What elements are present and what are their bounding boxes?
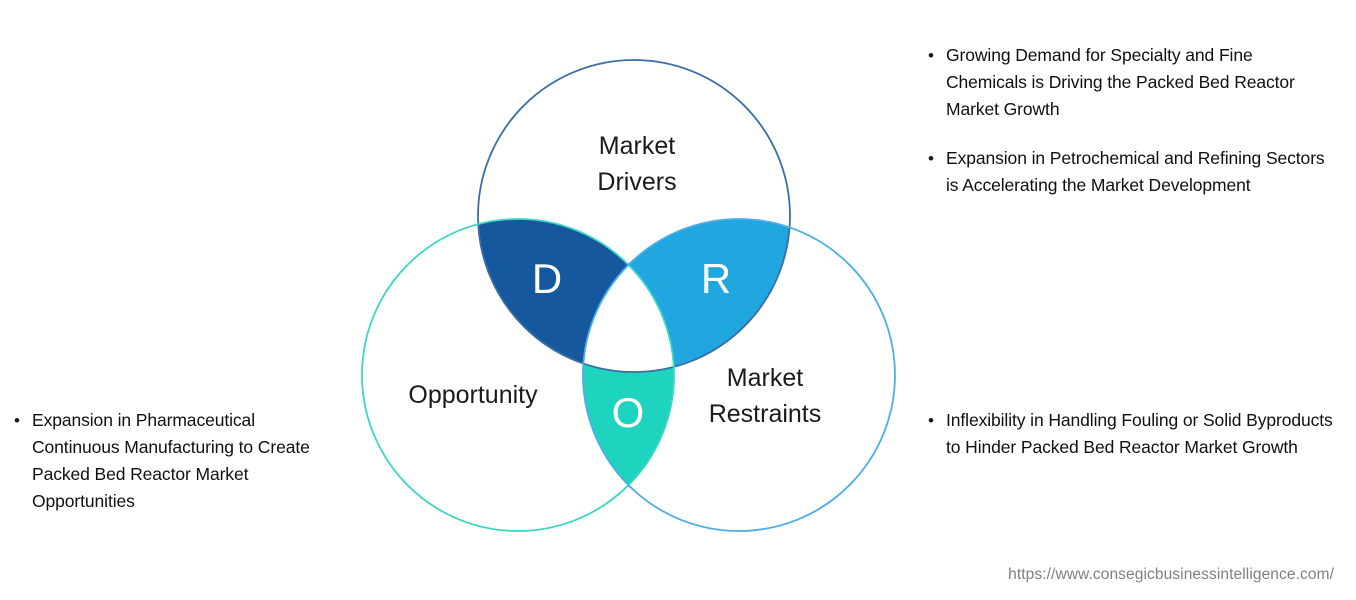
bullet-list-market-restraints: • Inflexibility in Handling Fouling or S… <box>928 407 1334 461</box>
bullet-item: • Inflexibility in Handling Fouling or S… <box>928 407 1334 461</box>
bullet-text: Expansion in Pharmaceutical Continuous M… <box>32 407 344 515</box>
bullet-text: Inflexibility in Handling Fouling or Sol… <box>946 407 1334 461</box>
venn-svg: Market Drivers Opportunity Market Restra… <box>340 30 920 560</box>
bullet-list-market-drivers: • Growing Demand for Specialty and Fine … <box>928 42 1334 199</box>
bullet-text: Expansion in Petrochemical and Refining … <box>946 145 1334 199</box>
bullet-item: • Expansion in Petrochemical and Refinin… <box>928 145 1334 199</box>
source-url[interactable]: https://www.consegicbusinessintelligence… <box>1008 566 1334 584</box>
venn-diagram: Market Drivers Opportunity Market Restra… <box>340 30 920 560</box>
bullet-list-opportunity: • Expansion in Pharmaceutical Continuous… <box>14 407 344 515</box>
bullet-item: • Growing Demand for Specialty and Fine … <box>928 42 1334 123</box>
lens-letter-o: O <box>612 389 645 436</box>
diagram-page: Market Drivers Opportunity Market Restra… <box>0 0 1356 600</box>
lens-letter-d: D <box>532 255 562 302</box>
bullet-marker-icon: • <box>928 42 946 69</box>
lens-letter-r: R <box>701 255 731 302</box>
label-market-drivers-line2: Drivers <box>597 168 676 196</box>
bullet-text: Growing Demand for Specialty and Fine Ch… <box>946 42 1334 123</box>
lens-opportunity-restraints <box>340 30 920 560</box>
bullet-marker-icon: • <box>14 407 32 434</box>
bullet-marker-icon: • <box>928 407 946 434</box>
bullet-marker-icon: • <box>928 145 946 172</box>
label-market-restraints-line1: Market <box>727 364 803 392</box>
label-market-restraints-line2: Restraints <box>709 400 822 428</box>
label-opportunity: Opportunity <box>408 381 538 409</box>
bullet-item: • Expansion in Pharmaceutical Continuous… <box>14 407 344 515</box>
label-market-drivers-line1: Market <box>599 132 675 160</box>
